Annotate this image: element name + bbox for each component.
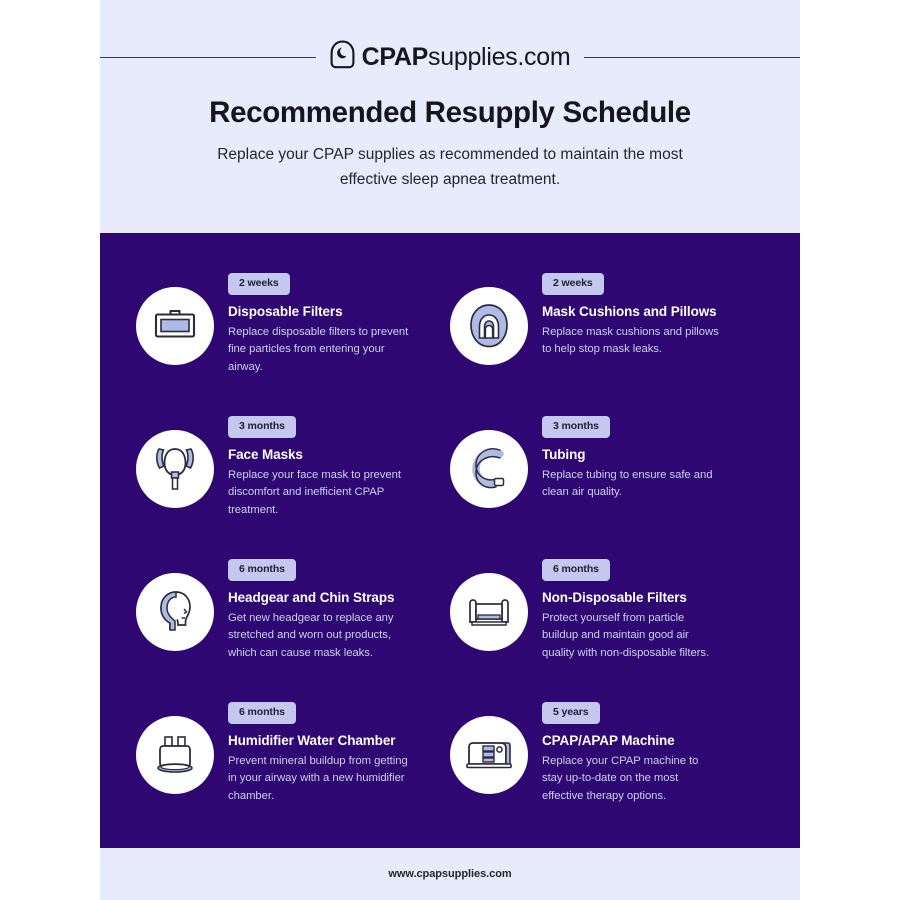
item-text: 3 months Tubing Replace tubing to ensure…	[542, 414, 764, 502]
schedule-item: 5 years CPAP/APAP Machine Replace your C…	[450, 700, 764, 843]
humidifier-chamber-icon	[153, 733, 197, 777]
footer-url: www.cpapsupplies.com	[388, 868, 511, 880]
brand-logo: CPAPsupplies.com	[316, 40, 585, 74]
schedule-item: 3 months Tubing Replace tubing to ensure…	[450, 414, 764, 557]
item-text: 3 months Face Masks Replace your face ma…	[228, 414, 450, 519]
page-title: Recommended Resupply Schedule	[100, 96, 800, 130]
item-description: Prevent mineral buildup from getting in …	[228, 753, 413, 806]
icon-circle	[136, 287, 214, 365]
icon-circle	[136, 716, 214, 794]
interval-badge: 3 months	[542, 416, 610, 438]
header: CPAPsupplies.com Recommended Resupply Sc…	[100, 0, 800, 233]
item-description: Replace your face mask to prevent discom…	[228, 467, 413, 520]
cpap-machine-icon	[465, 737, 513, 773]
infographic-page: CPAPsupplies.com Recommended Resupply Sc…	[100, 0, 800, 900]
item-title: Tubing	[542, 447, 764, 462]
schedule-grid: 2 weeks Disposable Filters Replace dispo…	[136, 271, 764, 843]
item-title: Headgear and Chin Straps	[228, 590, 450, 605]
icon-circle	[450, 430, 528, 508]
item-description: Replace mask cushions and pillows to hel…	[542, 324, 727, 359]
item-text: 6 months Headgear and Chin Straps Get ne…	[228, 557, 450, 662]
schedule-item: 6 months Headgear and Chin Straps Get ne…	[136, 557, 450, 700]
mask-cushion-icon	[468, 303, 510, 349]
brand-name-bold: CPAP	[362, 43, 428, 71]
interval-badge: 6 months	[228, 559, 296, 581]
face-mask-icon	[152, 445, 198, 493]
item-text: 5 years CPAP/APAP Machine Replace your C…	[542, 700, 764, 805]
rule-right	[584, 57, 800, 58]
interval-badge: 2 weeks	[542, 273, 604, 295]
interval-badge: 5 years	[542, 702, 600, 724]
schedule-item: 6 months Non-Disposable Filters Protect …	[450, 557, 764, 700]
schedule-item: 6 months Humidifier Water Chamber Preven…	[136, 700, 450, 843]
schedule-item: 2 weeks Disposable Filters Replace dispo…	[136, 271, 450, 414]
item-description: Replace tubing to ensure safe and clean …	[542, 467, 727, 502]
item-description: Get new headgear to replace any stretche…	[228, 610, 413, 663]
brand-name: CPAPsupplies.com	[362, 43, 571, 72]
icon-circle	[450, 287, 528, 365]
item-title: Non-Disposable Filters	[542, 590, 764, 605]
interval-badge: 3 months	[228, 416, 296, 438]
interval-badge: 2 weeks	[228, 273, 290, 295]
disposable-filter-icon	[153, 308, 197, 344]
schedule-section: 2 weeks Disposable Filters Replace dispo…	[100, 233, 800, 848]
icon-circle	[136, 573, 214, 651]
footer: www.cpapsupplies.com	[100, 848, 800, 900]
item-text: 6 months Non-Disposable Filters Protect …	[542, 557, 764, 662]
item-description: Replace disposable filters to prevent fi…	[228, 324, 413, 377]
brand-name-regular: supplies.com	[428, 43, 570, 71]
schedule-item: 3 months Face Masks Replace your face ma…	[136, 414, 450, 557]
non-disposable-filter-icon	[466, 596, 512, 628]
item-text: 2 weeks Disposable Filters Replace dispo…	[228, 271, 450, 376]
interval-badge: 6 months	[228, 702, 296, 724]
item-description: Protect yourself from particle buildup a…	[542, 610, 720, 663]
tubing-icon	[469, 447, 509, 491]
brand-bar: CPAPsupplies.com	[100, 40, 800, 74]
rule-left	[100, 57, 316, 58]
moon-mask-logo-icon	[330, 40, 355, 74]
icon-circle	[450, 716, 528, 794]
item-description: Replace your CPAP machine to stay up-to-…	[542, 753, 720, 806]
item-title: CPAP/APAP Machine	[542, 733, 764, 748]
item-text: 2 weeks Mask Cushions and Pillows Replac…	[542, 271, 764, 359]
icon-circle	[450, 573, 528, 651]
item-title: Face Masks	[228, 447, 450, 462]
interval-badge: 6 months	[542, 559, 610, 581]
schedule-item: 2 weeks Mask Cushions and Pillows Replac…	[450, 271, 764, 414]
item-text: 6 months Humidifier Water Chamber Preven…	[228, 700, 450, 805]
icon-circle	[136, 430, 214, 508]
page-subtitle: Replace your CPAP supplies as recommende…	[200, 142, 700, 192]
item-title: Humidifier Water Chamber	[228, 733, 450, 748]
item-title: Mask Cushions and Pillows	[542, 304, 764, 319]
item-title: Disposable Filters	[228, 304, 450, 319]
headgear-icon	[154, 589, 196, 635]
